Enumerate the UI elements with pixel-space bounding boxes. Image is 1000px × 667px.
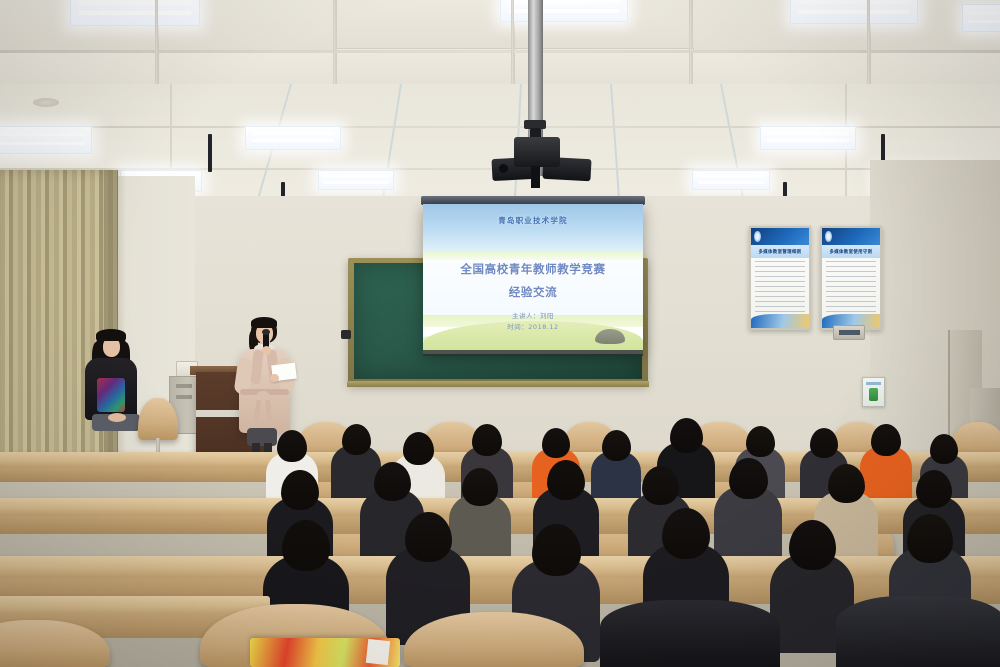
head bbox=[405, 512, 452, 562]
head bbox=[277, 430, 307, 462]
head bbox=[602, 430, 631, 461]
head bbox=[542, 428, 570, 458]
head bbox=[403, 432, 434, 465]
audience-area bbox=[0, 0, 1000, 667]
head bbox=[916, 470, 952, 508]
bag-handle bbox=[366, 639, 390, 665]
head bbox=[828, 464, 865, 503]
head bbox=[662, 508, 710, 559]
head bbox=[282, 520, 330, 571]
head bbox=[281, 470, 319, 510]
head bbox=[810, 428, 838, 458]
head bbox=[871, 424, 901, 456]
head bbox=[532, 524, 581, 576]
head bbox=[746, 426, 775, 457]
head bbox=[729, 458, 768, 499]
head bbox=[642, 466, 679, 505]
head bbox=[670, 418, 703, 453]
head bbox=[907, 514, 953, 563]
lecture-hall-photo: 青岛职业技术学院 全国高校青年教师教学竞赛 经验交流 主讲人：刘阳 时间：201… bbox=[0, 0, 1000, 667]
attendee-foreground-head bbox=[600, 600, 780, 667]
head bbox=[472, 424, 502, 456]
head bbox=[789, 520, 836, 570]
head bbox=[374, 462, 411, 501]
head bbox=[547, 460, 585, 500]
attendee-foreground-head bbox=[836, 596, 1000, 667]
head bbox=[342, 424, 371, 455]
head bbox=[930, 434, 958, 464]
desk-row[interactable] bbox=[0, 596, 270, 616]
head bbox=[462, 468, 498, 506]
